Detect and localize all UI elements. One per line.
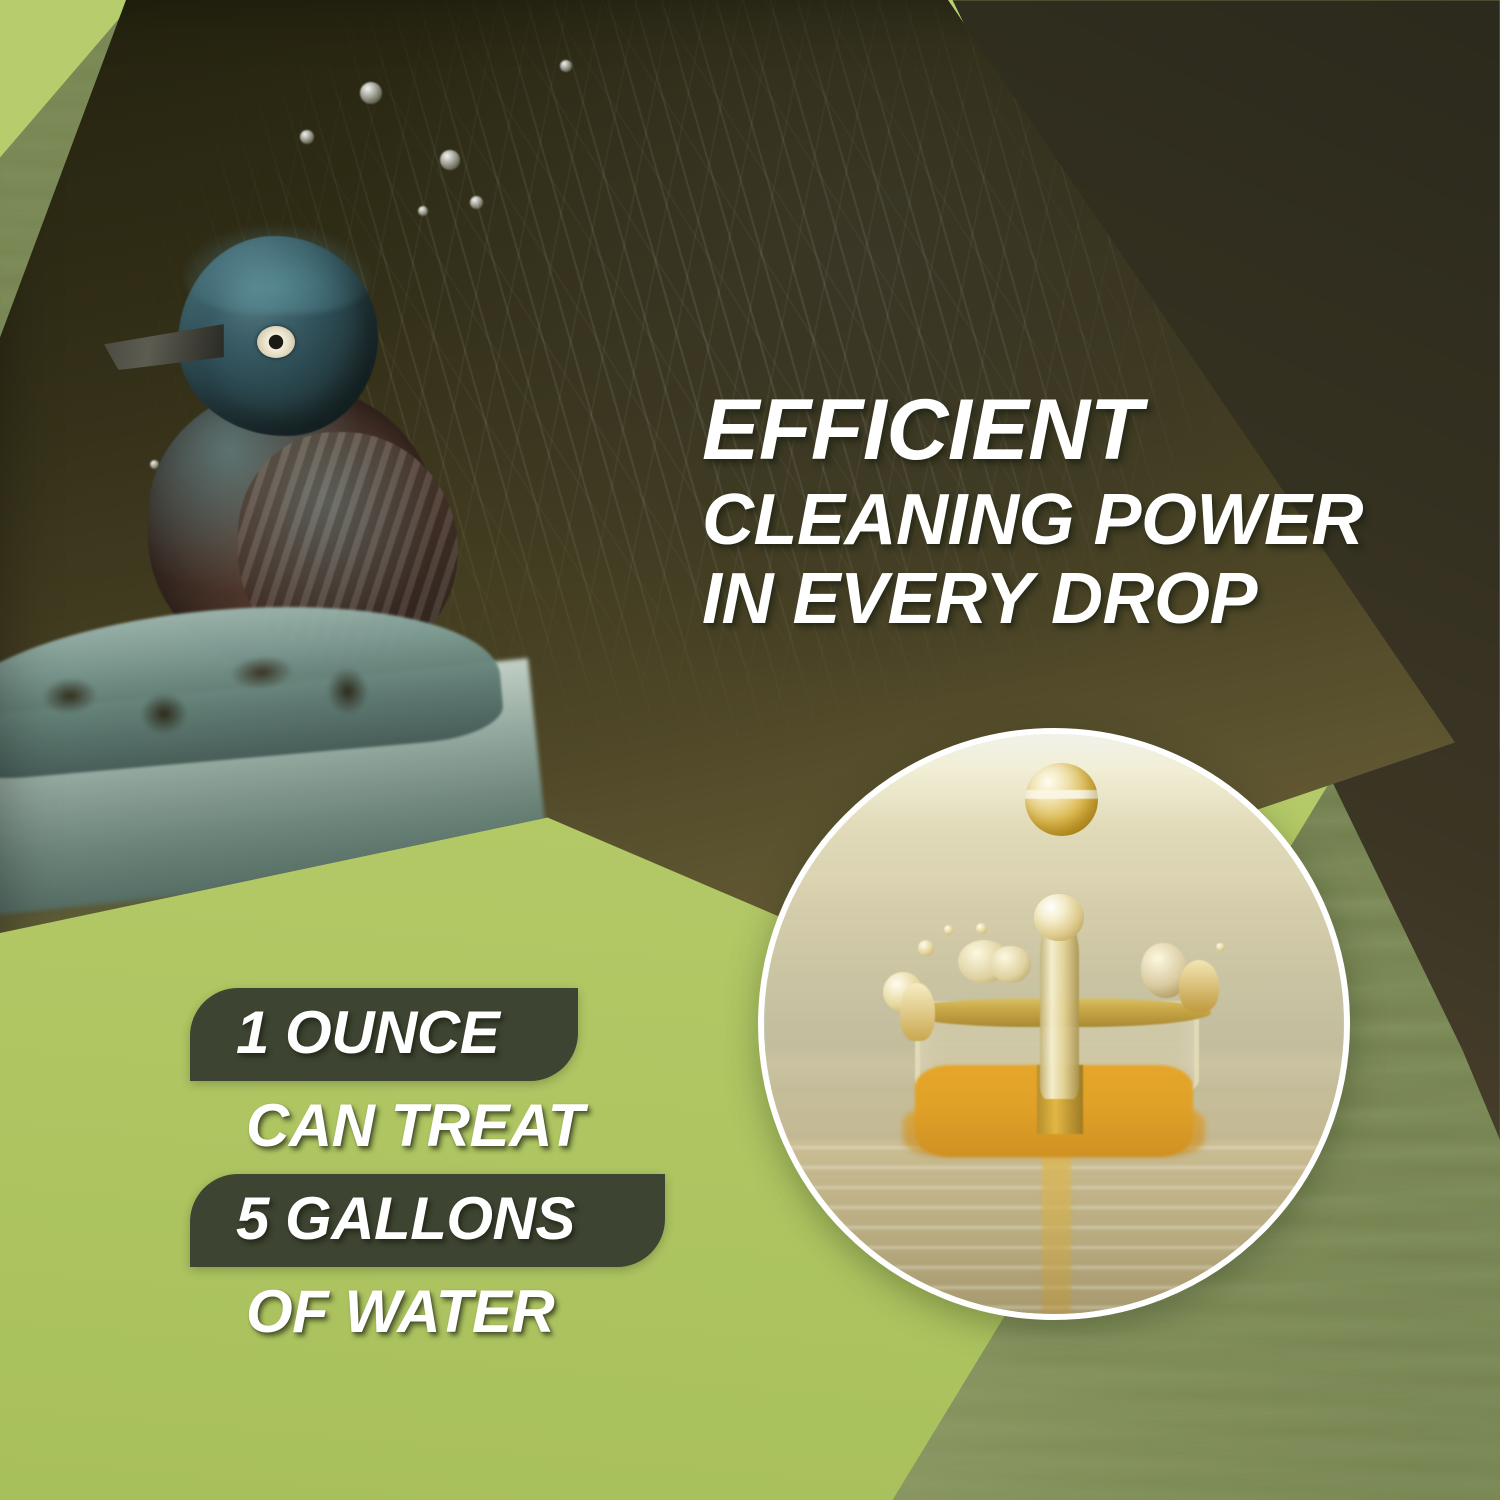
claim-line-3: 5 GALLONS: [236, 1184, 575, 1253]
jet-reflection: [1042, 1140, 1071, 1314]
bird-eye: [257, 326, 295, 358]
headline-line-1: EFFICIENT: [702, 388, 1442, 472]
claim-row: 1 OUNCE: [190, 988, 810, 1081]
claim-row: 5 GALLONS: [190, 1174, 810, 1267]
marketing-banner: EFFICIENT CLEANING POWER IN EVERY DROP 1…: [0, 0, 1500, 1500]
claim-row: OF WATER: [190, 1267, 810, 1360]
claim-line-1: 1 OUNCE: [236, 998, 499, 1067]
jet-top-droplet: [1034, 894, 1084, 942]
splash-lobe: [900, 983, 935, 1041]
claim-block: 1 OUNCE CAN TREAT 5 GALLONS OF WATER: [190, 988, 810, 1360]
falling-droplet: [1025, 763, 1098, 836]
liquid-jet: [1040, 914, 1079, 1100]
satellite-droplet: [976, 923, 987, 934]
satellite-droplet: [918, 940, 934, 956]
grackle-bird: [118, 236, 448, 656]
page-title: EFFICIENT CLEANING POWER IN EVERY DROP: [702, 388, 1442, 634]
splash-lobe: [990, 946, 1031, 984]
headline-line-2: CLEANING POWER: [702, 485, 1442, 556]
claim-line-4: OF WATER: [246, 1277, 554, 1346]
golden-water-droplet-splash-photo: [758, 728, 1350, 1320]
claim-line-2: CAN TREAT: [246, 1091, 584, 1160]
headline-line-3: IN EVERY DROP: [702, 564, 1442, 635]
claim-row: CAN TREAT: [190, 1081, 810, 1174]
satellite-droplet: [944, 925, 953, 934]
bird-crest: [184, 224, 374, 314]
splash-lobe: [1179, 960, 1220, 1012]
